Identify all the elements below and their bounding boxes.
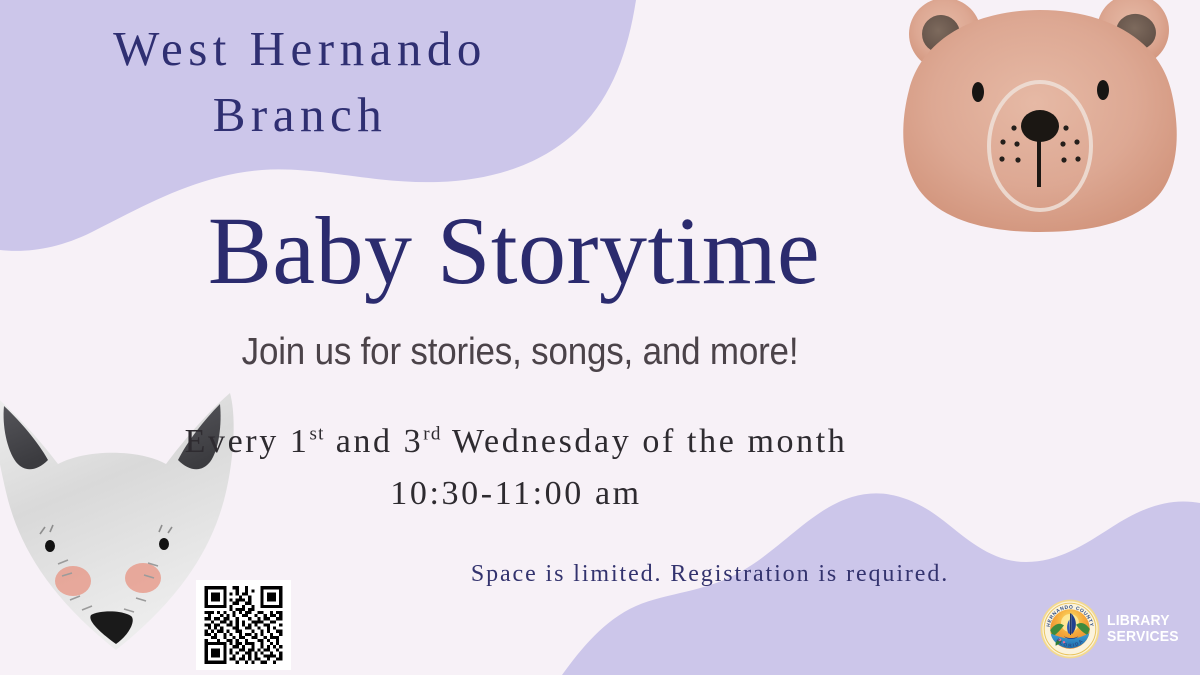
branch-name: West Hernando Branch — [20, 16, 580, 148]
branch-name-line2: Branch — [20, 82, 580, 148]
logo-word-services: SERVICES — [1107, 629, 1179, 645]
county-seal-icon: HERNANDO COUNTY FLORIDA — [1040, 599, 1100, 659]
schedule-ordinal-first: st — [310, 424, 325, 445]
bear-eye-left — [972, 82, 984, 102]
poster-canvas: West Hernando Branch Baby Storytime Join… — [0, 0, 1200, 675]
schedule-ordinal-third: rd — [423, 424, 441, 445]
schedule-line-recurrence: Every 1st and 3rd Wednesday of the month — [0, 416, 1116, 468]
library-logo: HERNANDO COUNTY FLORIDA LIBRARY SERVICES — [1040, 598, 1195, 660]
schedule-mid: and 3 — [325, 423, 424, 460]
bear-face-illustration — [890, 0, 1190, 232]
schedule-post: Wednesday of the month — [442, 423, 848, 460]
bear-nose — [1021, 110, 1059, 142]
logo-word-library: LIBRARY — [1107, 613, 1179, 629]
bear-eye-right — [1097, 80, 1109, 100]
schedule-block: Every 1st and 3rd Wednesday of the month… — [0, 416, 1116, 519]
schedule-line-time: 10:30-11:00 am — [0, 468, 1116, 520]
fox-eye-left — [45, 540, 55, 552]
library-logo-wordmark: LIBRARY SERVICES — [1107, 613, 1179, 645]
branch-name-line1: West Hernando — [113, 21, 487, 76]
page-title: Baby Storytime — [0, 203, 1114, 299]
bear-snout-line — [1037, 139, 1041, 187]
fox-blush-left — [55, 566, 91, 596]
fox-eye-right — [159, 538, 169, 550]
schedule-pre: Every 1 — [185, 423, 310, 460]
tagline: Join us for stories, songs, and more! — [0, 332, 1072, 374]
qr-code[interactable] — [196, 580, 291, 670]
qr-code-icon[interactable] — [196, 580, 291, 670]
